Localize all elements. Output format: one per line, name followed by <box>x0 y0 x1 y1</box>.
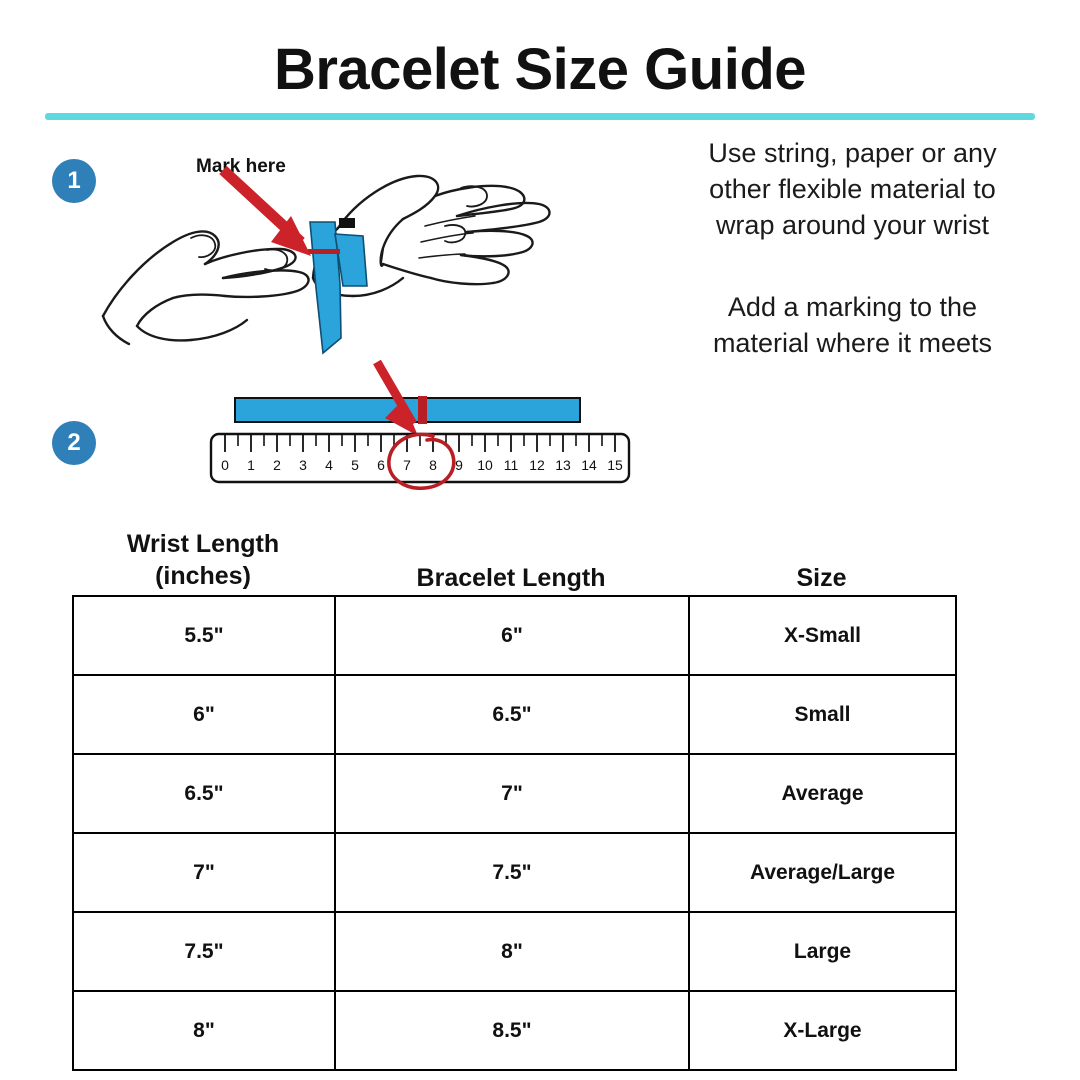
ruler-tick-label: 8 <box>429 457 437 473</box>
cell-size: Average/Large <box>689 833 956 912</box>
ruler-tick-label: 7 <box>403 457 411 473</box>
ruler-tick-label: 9 <box>455 457 463 473</box>
table-row: 6"6.5"Small <box>73 675 956 754</box>
ruler-tick-label: 3 <box>299 457 307 473</box>
cell-bracelet-length: 6.5" <box>335 675 689 754</box>
cell-wrist-length: 5.5" <box>73 596 335 675</box>
cell-bracelet-length: 8.5" <box>335 991 689 1070</box>
ruler-tick-label: 4 <box>325 457 333 473</box>
ruler-tick-label: 5 <box>351 457 359 473</box>
cell-wrist-length: 7" <box>73 833 335 912</box>
ruler-tick-label: 12 <box>529 457 545 473</box>
table-row: 7"7.5"Average/Large <box>73 833 956 912</box>
cell-bracelet-length: 7" <box>335 754 689 833</box>
table-row: 8"8.5"X-Large <box>73 991 956 1070</box>
ruler-tick-label: 10 <box>477 457 493 473</box>
ruler-tick-label: 13 <box>555 457 571 473</box>
cell-bracelet-length: 8" <box>335 912 689 991</box>
step-badge-2-number: 2 <box>67 431 80 455</box>
cell-size: X-Large <box>689 991 956 1070</box>
mark-here-arrow <box>223 170 311 256</box>
ruler-tick-label: 15 <box>607 457 623 473</box>
table-row: 5.5"6"X-Small <box>73 596 956 675</box>
cell-wrist-length: 8" <box>73 991 335 1070</box>
cell-size: Average <box>689 754 956 833</box>
ruler-measuring-illustration: 0123456789101112131415 <box>205 360 635 490</box>
cell-bracelet-length: 6" <box>335 596 689 675</box>
step-badge-2: 2 <box>52 421 96 465</box>
instructions-column: Use string, paper or any other flexible … <box>700 136 1005 362</box>
cell-wrist-length: 7.5" <box>73 912 335 991</box>
column-header-bracelet-length: Bracelet Length <box>334 562 688 594</box>
column-header-wrist-length: Wrist Length (inches) <box>72 528 334 592</box>
bracelet-size-table: 5.5"6"X-Small6"6.5"Small6.5"7"Average7"7… <box>72 595 957 1071</box>
column-header-size: Size <box>688 562 955 594</box>
column-header-wrist-length-line2: (inches) <box>72 560 334 592</box>
instruction-step-1: Use string, paper or any other flexible … <box>700 136 1005 244</box>
cell-size: Large <box>689 912 956 991</box>
step-badge-1: 1 <box>52 159 96 203</box>
cell-wrist-length: 6" <box>73 675 335 754</box>
ruler-tick-label: 11 <box>504 457 519 473</box>
cell-size: Small <box>689 675 956 754</box>
page-title: Bracelet Size Guide <box>0 40 1080 101</box>
cell-wrist-length: 6.5" <box>73 754 335 833</box>
instruction-step-2: Add a marking to the material where it m… <box>700 290 1005 362</box>
ruler-tick-label: 1 <box>247 457 255 473</box>
ruler-tick-label: 0 <box>221 457 229 473</box>
step-badge-1-number: 1 <box>67 169 80 193</box>
ruler-tick-label: 6 <box>377 457 385 473</box>
cell-bracelet-length: 7.5" <box>335 833 689 912</box>
cell-size: X-Small <box>689 596 956 675</box>
column-header-wrist-length-line1: Wrist Length <box>72 528 334 560</box>
table-row: 6.5"7"Average <box>73 754 956 833</box>
table-row: 7.5"8"Large <box>73 912 956 991</box>
title-divider <box>45 113 1035 120</box>
hands-measuring-wrist-illustration <box>95 138 565 363</box>
ruler-tick-label: 14 <box>581 457 597 473</box>
ruler-tick-label: 2 <box>273 457 281 473</box>
